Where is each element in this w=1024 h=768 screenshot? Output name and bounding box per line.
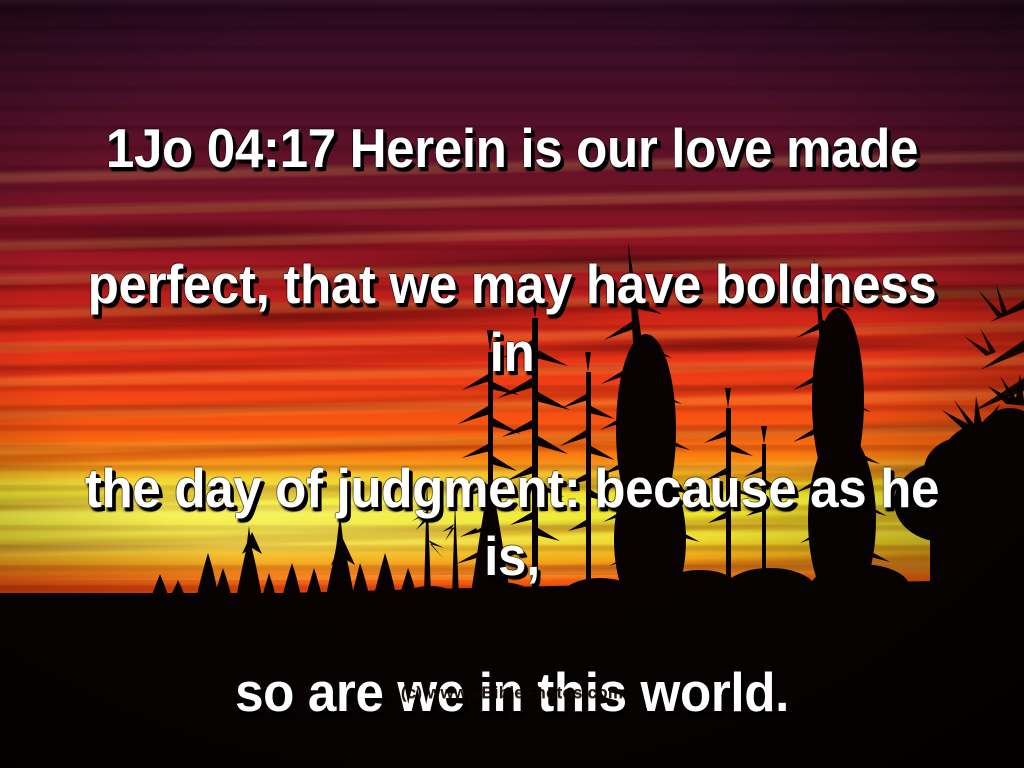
verse-line-1: 1Jo 04:17 Herein is our love made — [71, 114, 953, 182]
verse-text-overlay: 1Jo 04:17 Herein is our love made perfec… — [71, 46, 953, 768]
verse-line-3: the day of judgment: because as he is, — [71, 454, 953, 590]
watermark-credit: (c) www.eBiblePhotos.com — [0, 683, 1024, 703]
image-canvas: 1Jo 04:17 Herein is our love made perfec… — [0, 0, 1024, 768]
verse-line-2: perfect, that we may have boldness in — [71, 250, 953, 386]
